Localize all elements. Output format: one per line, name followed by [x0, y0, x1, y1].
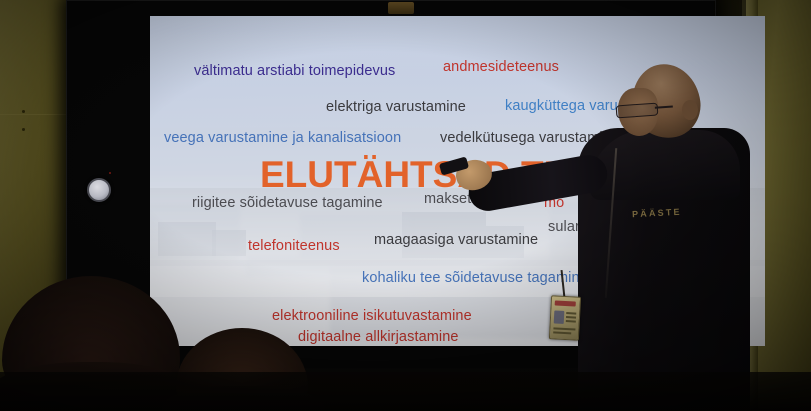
slide-term: elektriga varustamine — [326, 99, 466, 115]
presenter-ear — [682, 100, 698, 120]
slide-term: kohaliku tee sõidetavuse tagamine — [362, 270, 588, 286]
slide-term: elektrooniline isikutuvastamine — [272, 308, 472, 324]
slide-term: telefoniteenus — [248, 238, 340, 254]
slide-term: maagaasiga varustamine — [374, 232, 538, 248]
slide-term: digitaalne allkirjastamine — [298, 329, 459, 345]
classroom-scene: vältimatu arstiabi toimepidevusandmeside… — [0, 0, 811, 411]
presenter-figure: PÄÄSTE — [560, 56, 775, 411]
slide-term: veega varustamine ja kanalisatsioon — [164, 130, 401, 146]
power-button-icon[interactable] — [87, 178, 111, 202]
badge-lanyard — [561, 270, 566, 298]
foreground-darkness — [0, 372, 811, 411]
id-badge — [549, 295, 581, 341]
status-led-icon — [109, 172, 111, 174]
slide-term: andmesideteenus — [443, 59, 559, 75]
slide-term: vältimatu arstiabi toimepidevus — [194, 63, 395, 79]
camera-sensor-icon — [388, 2, 414, 14]
slide-term: riigitee sõidetavuse tagamine — [192, 195, 383, 211]
